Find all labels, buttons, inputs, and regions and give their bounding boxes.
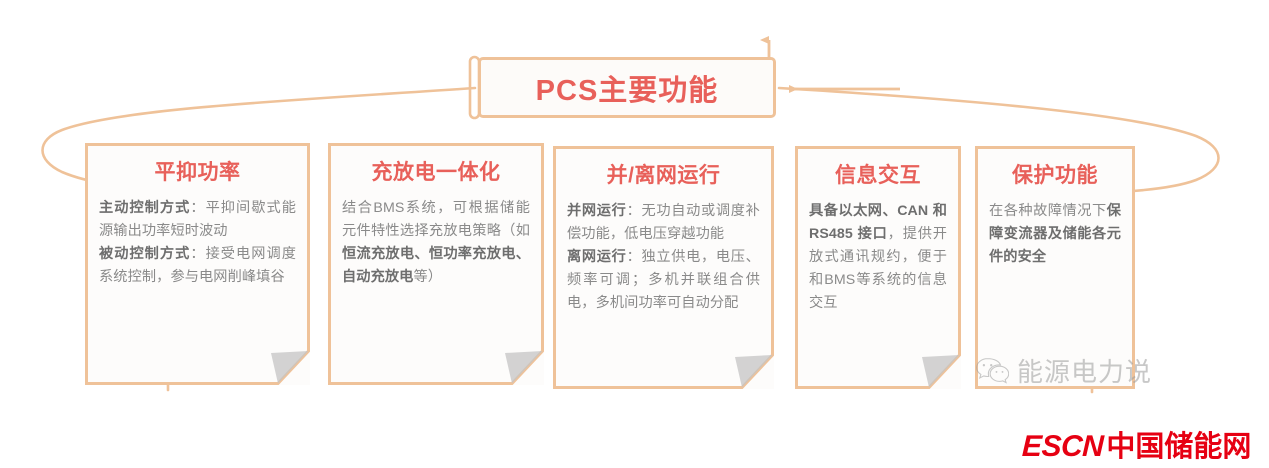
card-content: 信息交互 具备以太网、CAN 和 RS485 接口，提供开放式通讯规约，便于和B… [795,146,961,389]
card-平抑功率[interactable]: 平抑功率 主动控制方式：平抑间歇式能源输出功率短时波动 被动控制方式：接受电网调… [85,143,310,385]
card-paragraph: 离网运行：独立供电，电压、频率可调；多机并联组合供电，多机间功率可自动分配 [567,246,760,315]
card-content: 并/离网运行 并网运行：无功自动或调度补偿功能，低电压穿越功能 离网运行：独立供… [553,146,774,389]
infographic-canvas: PCS主要功能 平抑功率 主动控制方式：平抑间歇式能源输出功率短时波动 被动控制… [0,0,1269,468]
card-信息交互[interactable]: 信息交互 具备以太网、CAN 和 RS485 接口，提供开放式通讯规约，便于和B… [795,146,961,389]
paragraph-sep: ： [190,200,205,216]
card-body: 结合BMS系统，可根据储能元件特性选择充放电策略（如恒流充放电、恒功率充放电、自… [342,197,530,289]
paragraph-sep: ： [627,249,642,265]
paragraph-sep: ， [888,226,903,242]
paragraph-lead: 被动控制方式 [99,246,190,262]
card-content: 平抑功率 主动控制方式：平抑间歇式能源输出功率短时波动 被动控制方式：接受电网调… [85,143,310,385]
card-content: 充放电一体化 结合BMS系统，可根据储能元件特性选择充放电策略（如恒流充放电、恒… [328,143,544,385]
card-body: 并网运行：无功自动或调度补偿功能，低电压穿越功能 离网运行：独立供电，电压、频率… [567,200,760,315]
paragraph-tail: 等） [413,269,442,285]
card-paragraph: 并网运行：无功自动或调度补偿功能，低电压穿越功能 [567,200,760,246]
paragraph-text: 在各种故障情况下 [989,203,1107,219]
card-title: 保护功能 [989,159,1121,189]
card-body: 主动控制方式：平抑间歇式能源输出功率短时波动 被动控制方式：接受电网调度系统控制… [99,197,296,289]
card-body: 具备以太网、CAN 和 RS485 接口，提供开放式通讯规约，便于和BMS等系统… [809,200,947,315]
card-title: 平抑功率 [99,156,296,186]
paragraph-sep: ： [190,246,205,262]
paragraph-lead: 主动控制方式 [99,200,190,216]
paragraph-lead: 离网运行 [567,249,627,265]
paragraph-sep: ： [627,203,642,219]
page-title: PCS主要功能 [536,67,719,109]
card-paragraph: 结合BMS系统，可根据储能元件特性选择充放电策略（如恒流充放电、恒功率充放电、自… [342,197,530,289]
diagram-title-box: PCS主要功能 [478,57,776,118]
paragraph-lead: 并网运行 [567,203,627,219]
card-title: 并/离网运行 [567,159,760,189]
card-title: 充放电一体化 [342,156,530,186]
card-paragraph: 主动控制方式：平抑间歇式能源输出功率短时波动 [99,197,296,243]
wechat-icon [975,356,1009,386]
brand-mark: ESCN [1021,430,1104,464]
card-title: 信息交互 [809,159,947,189]
card-paragraph: 被动控制方式：接受电网调度系统控制，参与电网削峰填谷 [99,243,296,289]
card-并离网运行[interactable]: 并/离网运行 并网运行：无功自动或调度补偿功能，低电压穿越功能 离网运行：独立供… [553,146,774,389]
brand-name: 中国储能网 [1106,423,1251,465]
card-paragraph: 在各种故障情况下保障变流器及储能各元件的安全 [989,200,1121,269]
watermark-text: 能源电力说 [1017,352,1152,389]
card-body: 在各种故障情况下保障变流器及储能各元件的安全 [989,200,1121,269]
brand-logo: ESCN 中国储能网 [1022,423,1251,465]
paragraph-text: 结合BMS系统，可根据储能元件特性选择充放电策略（如 [342,200,530,239]
card-paragraph: 具备以太网、CAN 和 RS485 接口，提供开放式通讯规约，便于和BMS等系统… [809,200,947,315]
watermark: 能源电力说 [975,352,1152,389]
card-充放电一体化[interactable]: 充放电一体化 结合BMS系统，可根据储能元件特性选择充放电策略（如恒流充放电、恒… [328,143,544,385]
